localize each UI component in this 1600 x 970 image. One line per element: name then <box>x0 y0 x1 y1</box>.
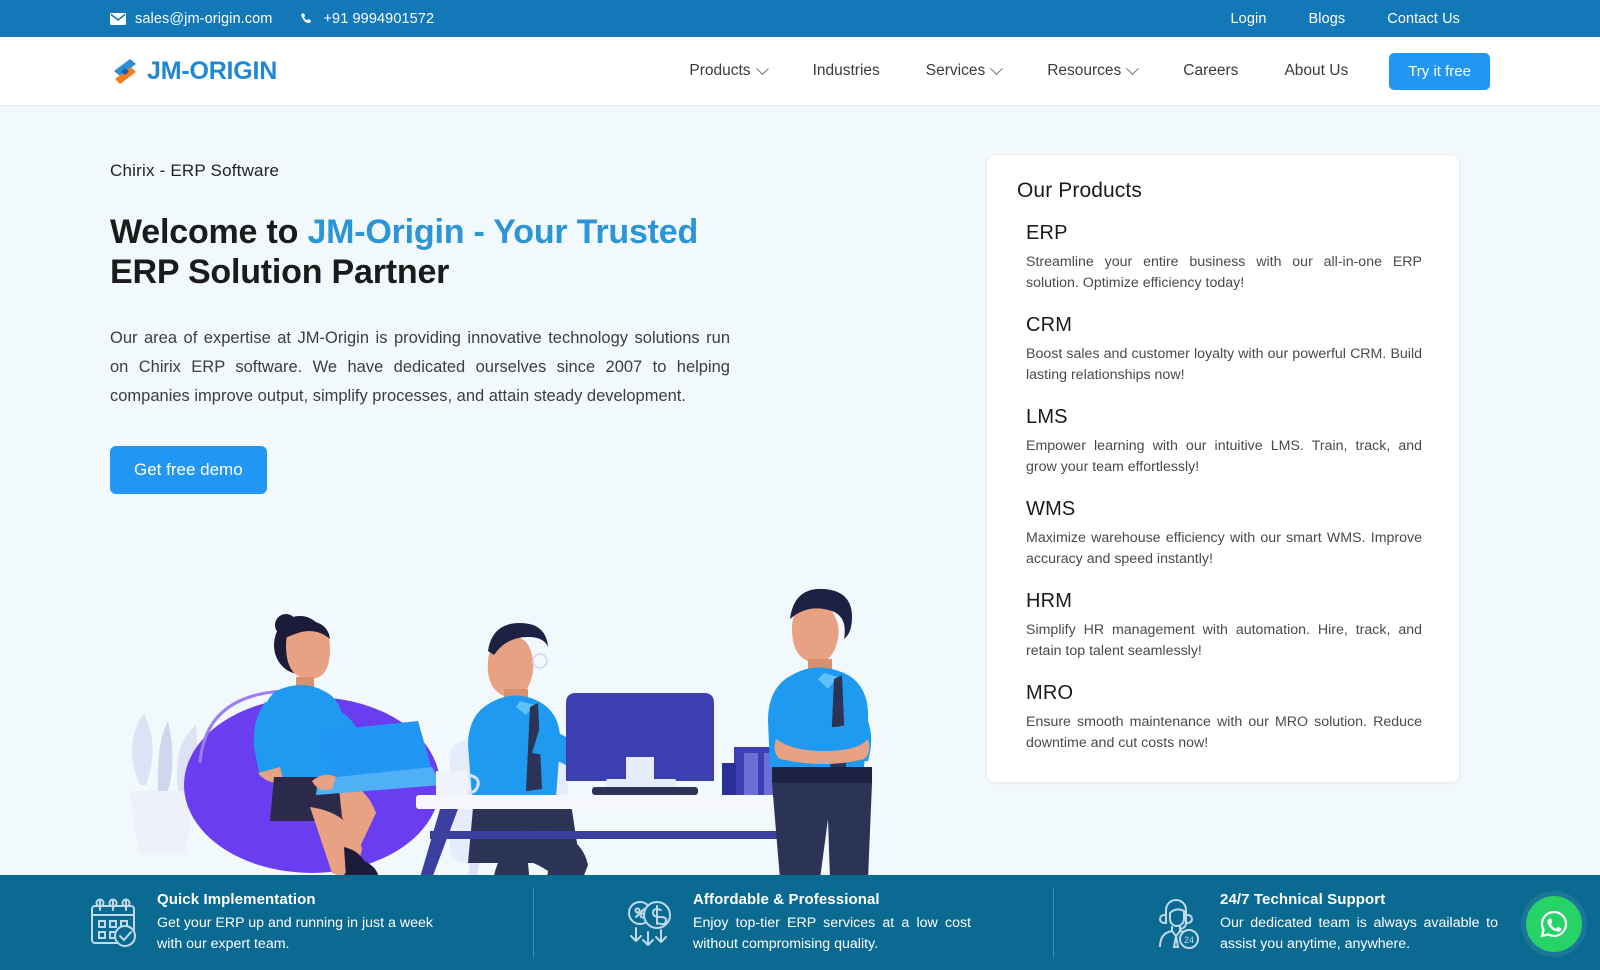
chevron-down-icon <box>1126 62 1139 75</box>
feature-title: Quick Implementation <box>157 891 433 908</box>
product-name: WMS <box>1026 498 1429 521</box>
nav-item-about-us[interactable]: About Us <box>1261 62 1371 80</box>
chevron-down-icon <box>756 62 769 75</box>
mail-icon <box>110 13 126 25</box>
feature-quick-implementation: Quick Implementation Get your ERP up and… <box>0 875 533 970</box>
phone-contact[interactable]: +91 9994901572 <box>300 11 434 27</box>
hero-section: Chirix - ERP Software Welcome to JM-Orig… <box>0 106 1600 875</box>
products-card-title: Our Products <box>1017 179 1429 203</box>
nav-item-careers[interactable]: Careers <box>1160 62 1261 80</box>
nav-links: Products Industries Services Resources C… <box>666 53 1490 90</box>
topbar-link-contact-us[interactable]: Contact Us <box>1387 11 1460 27</box>
feature-description: Get your ERP up and running in just a we… <box>157 913 433 953</box>
feature-affordable-professional: Affordable & Professional Enjoy top-tier… <box>533 875 1053 970</box>
feature-technical-support: 24 24/7 Technical Support Our dedicated … <box>1053 875 1600 970</box>
feature-description: Our dedicated team is always available t… <box>1220 913 1498 953</box>
top-utility-bar: sales@jm-origin.com +91 9994901572 Login… <box>0 0 1600 37</box>
whatsapp-icon <box>1538 908 1570 940</box>
chevron-down-icon <box>990 62 1003 75</box>
product-name: MRO <box>1026 682 1429 705</box>
product-item-hrm[interactable]: HRM Simplify HR management with automati… <box>1026 590 1429 662</box>
product-item-crm[interactable]: CRM Boost sales and customer loyalty wit… <box>1026 314 1429 386</box>
support-agent-icon: 24 <box>1148 895 1204 951</box>
page-title: Welcome to JM-Origin - Your Trusted ERP … <box>110 213 770 293</box>
email-contact[interactable]: sales@jm-origin.com <box>110 11 272 27</box>
feature-description: Enjoy top-tier ERP services at a low cos… <box>693 913 971 953</box>
try-it-free-button[interactable]: Try it free <box>1389 53 1490 90</box>
product-item-wms[interactable]: WMS Maximize warehouse efficiency with o… <box>1026 498 1429 570</box>
product-description: Ensure smooth maintenance with our MRO s… <box>1026 712 1422 754</box>
hero-paragraph: Our area of expertise at JM-Origin is pr… <box>110 324 730 412</box>
topbar-links: Login Blogs Contact Us <box>1231 11 1461 27</box>
nav-item-industries[interactable]: Industries <box>790 62 903 80</box>
nav-item-industries-label: Industries <box>813 62 880 80</box>
topbar-contact-group: sales@jm-origin.com +91 9994901572 <box>110 11 434 27</box>
nav-item-services-label: Services <box>926 62 985 80</box>
hero-heading-accent: JM-Origin - Your Trusted <box>307 213 698 251</box>
hero-heading-line2: ERP Solution Partner <box>110 253 449 291</box>
nav-item-products[interactable]: Products <box>666 62 789 80</box>
logo-mark-icon <box>110 56 141 87</box>
product-name: CRM <box>1026 314 1429 337</box>
product-name: LMS <box>1026 406 1429 429</box>
product-item-erp[interactable]: ERP Streamline your entire business with… <box>1026 222 1429 294</box>
whatsapp-chat-button[interactable] <box>1526 896 1582 952</box>
nav-item-about-us-label: About Us <box>1284 62 1348 80</box>
feature-text: Affordable & Professional Enjoy top-tier… <box>693 891 971 953</box>
cost-down-icon <box>621 895 677 951</box>
page-root: sales@jm-origin.com +91 9994901572 Login… <box>0 0 1600 970</box>
feature-text: 24/7 Technical Support Our dedicated tea… <box>1220 891 1498 953</box>
product-item-mro[interactable]: MRO Ensure smooth maintenance with our M… <box>1026 682 1429 754</box>
product-name: ERP <box>1026 222 1429 245</box>
nav-item-products-label: Products <box>689 62 750 80</box>
product-description: Maximize warehouse efficiency with our s… <box>1026 528 1422 570</box>
svg-text:24: 24 <box>1184 935 1194 945</box>
feature-highlights-bar: Quick Implementation Get your ERP up and… <box>0 875 1600 970</box>
get-free-demo-button[interactable]: Get free demo <box>110 446 267 494</box>
feature-title: Affordable & Professional <box>693 891 971 908</box>
calendar-check-icon <box>85 895 141 951</box>
product-description: Simplify HR management with automation. … <box>1026 620 1422 662</box>
feature-title: 24/7 Technical Support <box>1220 891 1498 908</box>
nav-item-resources-label: Resources <box>1047 62 1121 80</box>
hero-heading-plain: Welcome to <box>110 213 307 251</box>
product-description: Empower learning with our intuitive LMS.… <box>1026 436 1422 478</box>
feature-text: Quick Implementation Get your ERP up and… <box>157 891 433 953</box>
hero-eyebrow: Chirix - ERP Software <box>110 161 770 181</box>
product-name: HRM <box>1026 590 1429 613</box>
product-description: Boost sales and customer loyalty with ou… <box>1026 344 1422 386</box>
nav-item-careers-label: Careers <box>1183 62 1238 80</box>
product-description: Streamline your entire business with our… <box>1026 252 1422 294</box>
main-navbar: JM-ORIGIN Products Industries Services R… <box>0 37 1600 106</box>
nav-item-services[interactable]: Services <box>903 62 1024 80</box>
topbar-link-login[interactable]: Login <box>1231 11 1267 27</box>
product-item-lms[interactable]: LMS Empower learning with our intuitive … <box>1026 406 1429 478</box>
logo[interactable]: JM-ORIGIN <box>110 56 277 87</box>
nav-item-resources[interactable]: Resources <box>1024 62 1160 80</box>
email-text: sales@jm-origin.com <box>135 11 272 27</box>
topbar-link-blogs[interactable]: Blogs <box>1308 11 1345 27</box>
office-team-illustration <box>100 495 890 875</box>
logo-text: JM-ORIGIN <box>147 57 277 86</box>
phone-text: +91 9994901572 <box>323 11 434 27</box>
phone-icon <box>300 12 314 26</box>
our-products-card: Our Products ERP Streamline your entire … <box>986 154 1460 783</box>
hero-copy: Chirix - ERP Software Welcome to JM-Orig… <box>110 161 770 494</box>
